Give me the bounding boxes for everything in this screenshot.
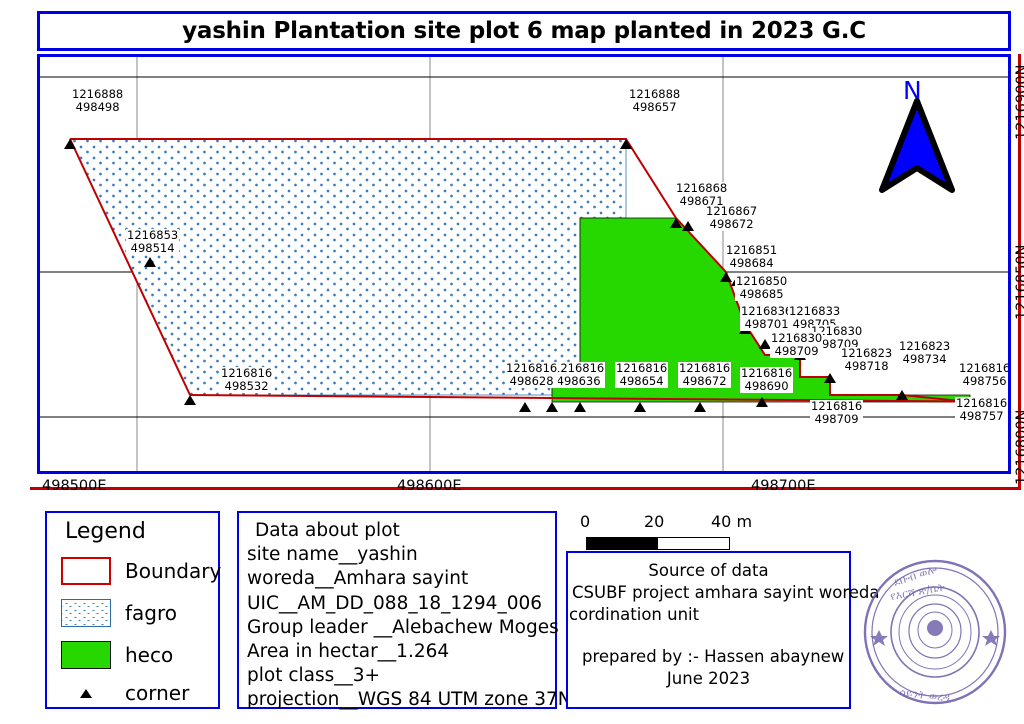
source-panel: Source of data CSUBF project amhara sayi… bbox=[566, 551, 851, 709]
plot-data-line-5: Area in hectar__1.264 bbox=[247, 640, 572, 664]
corner-coordinate-label: 1216836498701 bbox=[740, 305, 793, 331]
corner-easting: 498636 bbox=[553, 375, 604, 388]
corner-easting: 498718 bbox=[841, 360, 892, 373]
triangle-icon bbox=[80, 689, 92, 698]
legend-panel: Legend Boundary fagro heco corner bbox=[45, 511, 220, 709]
corner-easting: 498685 bbox=[736, 288, 787, 301]
heco-swatch-icon bbox=[61, 641, 111, 669]
y-axis-tick-2: 1216800N bbox=[1014, 410, 1024, 485]
corner-easting: 498654 bbox=[616, 375, 667, 388]
corner-coordinate-label: 1216816498756 bbox=[958, 362, 1011, 388]
corner-coordinate-label: 1216816498709 bbox=[810, 400, 863, 426]
corner-easting: 498672 bbox=[679, 375, 730, 388]
corner-easting: 498672 bbox=[706, 218, 757, 231]
x-axis-tick-2: 498700E bbox=[751, 478, 816, 494]
corner-easting: 498498 bbox=[72, 101, 123, 114]
corner-coordinate-label: 1216816498532 bbox=[220, 367, 273, 393]
plot-data-line-0: Data about plot bbox=[247, 519, 572, 543]
y-axis-tick-1: 1216850N bbox=[1014, 245, 1024, 320]
plot-data-panel: Data about plotsite name__yashinworeda__… bbox=[237, 511, 557, 709]
legend-item-corner: corner bbox=[61, 681, 189, 705]
plot-data-line-1: site name__yashin bbox=[247, 543, 572, 567]
corner-easting: 498657 bbox=[629, 101, 680, 114]
scale-tick-1: 20 bbox=[644, 512, 664, 531]
corner-coordinate-label: 1216850498685 bbox=[735, 275, 788, 301]
fagro-swatch-icon bbox=[61, 599, 111, 627]
legend-label-corner: corner bbox=[125, 681, 189, 705]
map-page: yashin Plantation site plot 6 map plante… bbox=[0, 0, 1024, 724]
corner-coordinate-label: 1216816498628 bbox=[505, 362, 558, 388]
scale-segment-filled bbox=[587, 538, 658, 549]
corner-coordinate-label: 1216867498672 bbox=[705, 205, 758, 231]
prepared-date: June 2023 bbox=[568, 669, 849, 688]
legend-title: Legend bbox=[65, 519, 146, 544]
official-stamp-seal: ደቡብ ወሎ የእርሻ ጽ/ቤት ሳይንት ወረዳ bbox=[861, 556, 1009, 708]
corner-swatch-icon bbox=[61, 682, 111, 704]
source-heading: Source of data bbox=[568, 561, 849, 580]
corner-easting: 498628 bbox=[506, 375, 557, 388]
map-canvas: 1216888498498121685349851412168164985321… bbox=[37, 54, 1011, 474]
scale-bar-graphic bbox=[586, 537, 730, 550]
corner-coordinate-label: 1216816498672 bbox=[678, 362, 731, 388]
legend-item-fagro: fagro bbox=[61, 599, 177, 627]
corner-easting: 498701 bbox=[741, 318, 792, 331]
corner-coordinate-label: 1216816498690 bbox=[740, 367, 793, 393]
plot-data-line-6: plot class__3+ bbox=[247, 664, 572, 688]
corner-coordinate-label: 1216816498636 bbox=[552, 362, 605, 388]
scale-tick-2: 40 m bbox=[711, 512, 752, 531]
svg-text:ሳይንት ወረዳ: ሳይንት ወረዳ bbox=[899, 686, 951, 704]
x-axis-tick-1: 498600E bbox=[397, 478, 462, 494]
corner-easting: 498709 bbox=[811, 413, 862, 426]
scale-segment-empty bbox=[658, 538, 729, 549]
legend-label-heco: heco bbox=[125, 643, 173, 667]
corner-coordinate-label: 1216851498684 bbox=[725, 244, 778, 270]
plot-data-line-4: Group leader __Alebachew Moges bbox=[247, 616, 572, 640]
corner-coordinate-label: 1216853498514 bbox=[126, 229, 179, 255]
corner-coordinate-label: 1216823498718 bbox=[840, 347, 893, 373]
plot-data-lines: Data about plotsite name__yashinworeda__… bbox=[247, 519, 572, 713]
north-arrow-icon bbox=[878, 98, 956, 193]
x-axis-tick-0: 498500E bbox=[42, 478, 107, 494]
boundary-swatch-icon bbox=[61, 557, 111, 585]
corner-easting: 498690 bbox=[741, 380, 792, 393]
corner-easting: 498514 bbox=[127, 242, 178, 255]
scale-tick-0: 0 bbox=[580, 512, 590, 531]
corner-easting: 498757 bbox=[956, 410, 1007, 423]
corner-coordinate-label: 1216816498654 bbox=[615, 362, 668, 388]
corner-coordinate-label: 1216888498657 bbox=[628, 88, 681, 114]
source-line-2: cordination unit bbox=[569, 605, 699, 624]
source-line-1: CSUBF project amhara sayint woreda bbox=[572, 583, 880, 602]
legend-label-fagro: fagro bbox=[125, 601, 177, 625]
corner-coordinate-label: 1216888498498 bbox=[71, 88, 124, 114]
corner-easting: 498532 bbox=[221, 380, 272, 393]
corner-coordinate-label: 1216823498734 bbox=[898, 340, 951, 366]
plot-data-line-2: woreda__Amhara sayint bbox=[247, 567, 572, 591]
plot-data-line-3: UIC__AM_DD_088_18_1294_006 bbox=[247, 592, 572, 616]
scale-bar-group: 0 20 40 m bbox=[566, 512, 806, 552]
corner-easting: 498684 bbox=[726, 257, 777, 270]
plot-data-line-7: projection__WGS 84 UTM zone 37N bbox=[247, 688, 572, 712]
corner-coordinate-label: 1216830498709 bbox=[770, 332, 823, 358]
map-title-frame: yashin Plantation site plot 6 map plante… bbox=[37, 11, 1011, 51]
corner-coordinate-label: 1216816498757 bbox=[955, 397, 1008, 423]
corner-easting: 498709 bbox=[771, 345, 822, 358]
page-title: yashin Plantation site plot 6 map plante… bbox=[182, 18, 866, 44]
legend-item-boundary: Boundary bbox=[61, 557, 221, 585]
legend-label-boundary: Boundary bbox=[125, 559, 221, 583]
y-axis-tick-0: 1216900N bbox=[1014, 65, 1024, 140]
prepared-by-line: prepared by :- Hassen abaynew bbox=[582, 647, 844, 666]
red-border-bottom bbox=[30, 487, 1021, 490]
legend-item-heco: heco bbox=[61, 641, 173, 669]
corner-easting: 498756 bbox=[959, 375, 1010, 388]
corner-easting: 498734 bbox=[899, 353, 950, 366]
